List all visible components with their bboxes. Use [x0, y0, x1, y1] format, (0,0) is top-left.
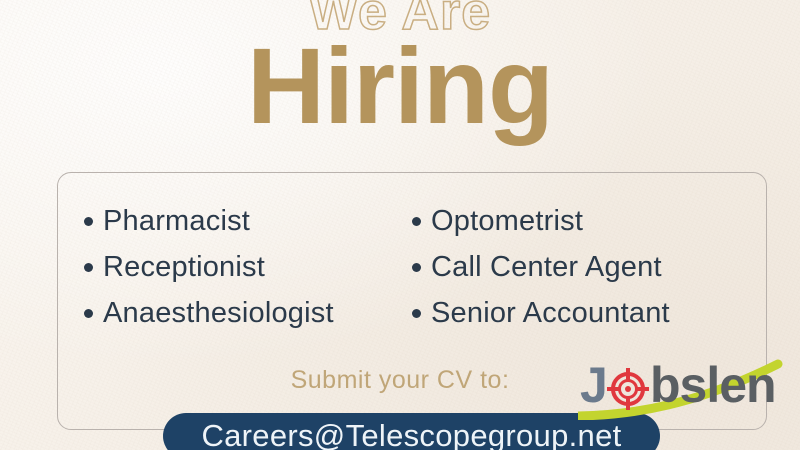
- job-column-right: Optometrist Call Center Agent Senior Acc…: [412, 198, 767, 336]
- job-listings: Pharmacist Receptionist Anaesthesiologis…: [57, 198, 767, 336]
- job-column-left: Pharmacist Receptionist Anaesthesiologis…: [57, 198, 412, 336]
- headline: We Are Hiring: [0, 0, 800, 140]
- logo-letters-bslen: bslen: [650, 358, 776, 413]
- job-title: Anaesthesiologist: [103, 297, 334, 330]
- job-title: Senior Accountant: [431, 297, 670, 330]
- bullet-icon: [84, 309, 93, 318]
- bullet-icon: [84, 263, 93, 272]
- jobslen-logo: J bslen: [578, 358, 793, 420]
- list-item: Optometrist: [412, 198, 767, 244]
- bullet-icon: [412, 217, 421, 226]
- logo-letter-j: J: [580, 358, 608, 413]
- list-item: Pharmacist: [84, 198, 412, 244]
- job-title: Receptionist: [103, 251, 265, 284]
- list-item: Call Center Agent: [412, 244, 767, 290]
- hiring-poster: We Are Hiring Pharmacist Receptionist An…: [0, 0, 800, 450]
- headline-line-hiring: Hiring: [0, 32, 800, 140]
- job-title: Call Center Agent: [431, 251, 662, 284]
- contact-email[interactable]: Careers@Telescopegroup.net: [201, 420, 621, 450]
- crosshair-target-icon: [607, 368, 649, 410]
- list-item: Senior Accountant: [412, 290, 767, 336]
- bullet-icon: [84, 217, 93, 226]
- list-item: Receptionist: [84, 244, 412, 290]
- job-title: Optometrist: [431, 205, 583, 238]
- bullet-icon: [412, 309, 421, 318]
- bullet-icon: [412, 263, 421, 272]
- job-title: Pharmacist: [103, 205, 250, 238]
- list-item: Anaesthesiologist: [84, 290, 412, 336]
